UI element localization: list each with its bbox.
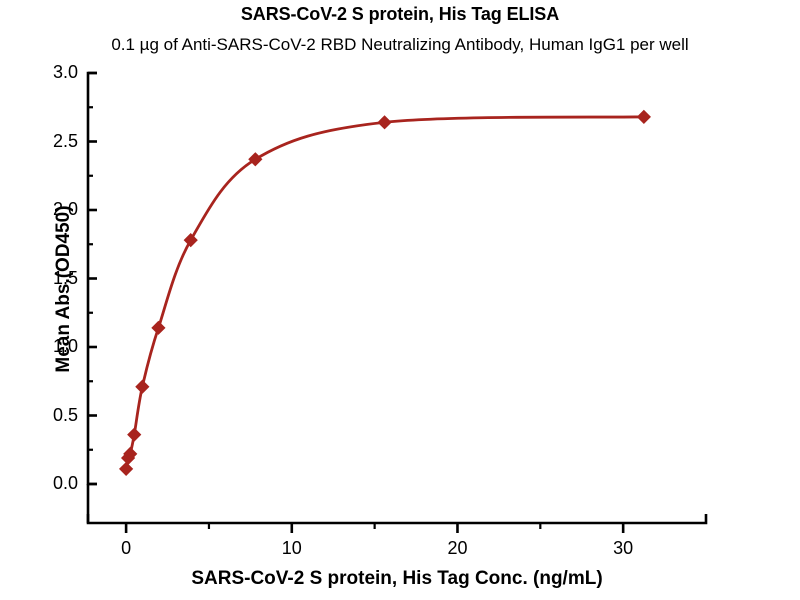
y-tick-label: 0.5 (24, 406, 78, 424)
x-axis-spine (88, 514, 706, 523)
series-line (126, 117, 644, 469)
y-tick-label: 1.0 (24, 337, 78, 355)
data-point-marker (152, 321, 165, 334)
chart-figure: SARS-CoV-2 S protein, His Tag ELISA 0.1 … (0, 0, 800, 600)
axes (88, 73, 706, 533)
x-tick-label: 20 (427, 539, 487, 557)
y-tick-label: 3.0 (24, 63, 78, 81)
data-point-marker (128, 428, 141, 441)
plot-area (0, 0, 800, 600)
data-point-marker (136, 380, 149, 393)
data-point-marker (637, 110, 650, 123)
x-tick-label: 30 (593, 539, 653, 557)
x-tick-label: 10 (262, 539, 322, 557)
data-point-marker (120, 463, 133, 476)
y-tick-label: 0.0 (24, 474, 78, 492)
x-tick-label: 0 (96, 539, 156, 557)
y-tick-label: 2.5 (24, 132, 78, 150)
y-tick-label: 2.0 (24, 200, 78, 218)
y-tick-label: 1.5 (24, 269, 78, 287)
data-series (120, 110, 651, 475)
data-point-marker (184, 234, 197, 247)
data-point-marker (378, 116, 391, 129)
